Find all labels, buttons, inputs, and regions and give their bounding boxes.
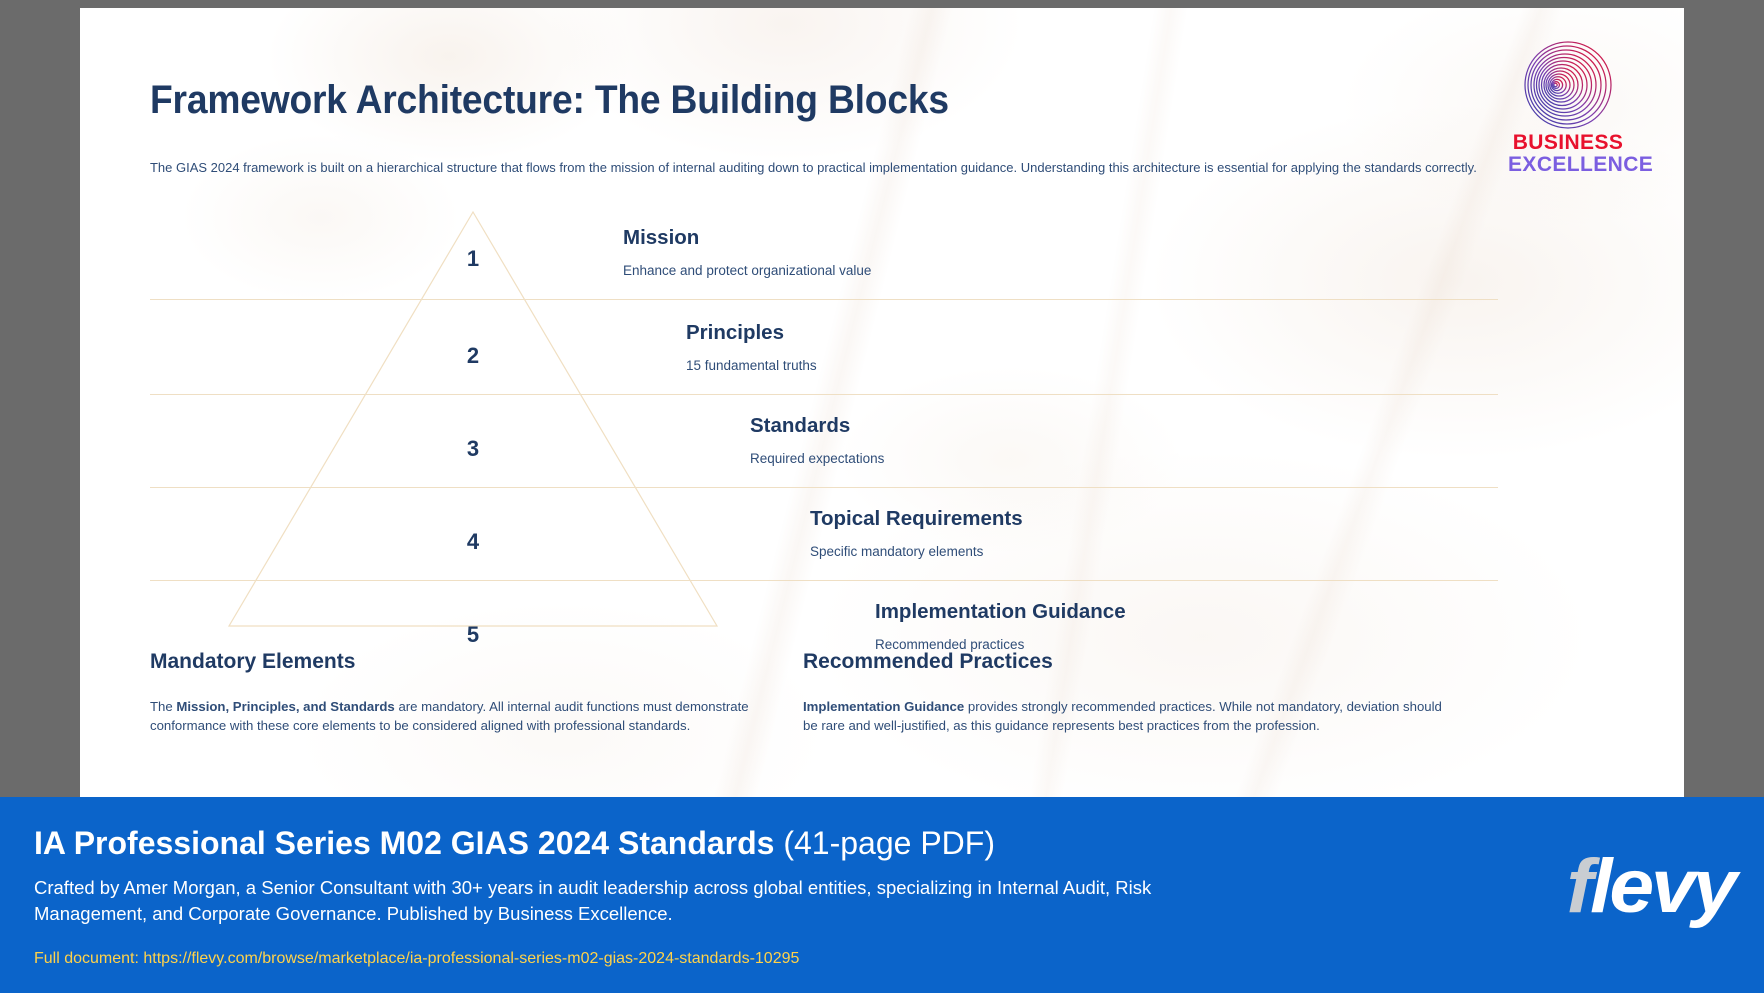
pyramid-tier: 2 Principles 15 fundamental truths (150, 299, 1498, 381)
footer-body-bold: Implementation Guidance (803, 699, 964, 714)
footer-heading: Mandatory Elements (150, 650, 790, 674)
tier-desc: 15 fundamental truths (686, 358, 817, 373)
banner-description: Crafted by Amer Morgan, a Senior Consult… (34, 875, 1164, 926)
brand-name-top: BUSINESS (1508, 132, 1628, 154)
tier-desc: Enhance and protect organizational value (623, 263, 871, 278)
footer-heading: Recommended Practices (803, 650, 1443, 674)
tier-title: Mission (623, 226, 699, 250)
tier-title: Implementation Guidance (875, 600, 1126, 624)
flevy-logo[interactable]: flevy (1566, 849, 1734, 925)
flevy-logo-rest: levy (1590, 844, 1734, 929)
tier-number: 4 (453, 529, 493, 555)
business-excellence-logo: BUSINESS EXCELLENCE (1508, 40, 1628, 176)
footer-column-mandatory: Mandatory Elements The Mission, Principl… (150, 650, 790, 735)
tier-desc: Required expectations (750, 451, 884, 466)
flevy-promo-banner: IA Professional Series M02 GIAS 2024 Sta… (0, 797, 1764, 993)
footer-body: Implementation Guidance provides strongl… (803, 698, 1443, 735)
footer-body-lead: The (150, 699, 176, 714)
footer-column-recommended: Recommended Practices Implementation Gui… (803, 650, 1443, 735)
tier-number: 1 (453, 246, 493, 272)
tier-title: Principles (686, 321, 784, 345)
banner-doc-name: IA Professional Series M02 GIAS 2024 Sta… (34, 825, 774, 861)
footer-body-bold: Mission, Principles, and Standards (176, 699, 394, 714)
tier-number: 2 (453, 343, 493, 369)
footer-body: The Mission, Principles, and Standards a… (150, 698, 790, 735)
tier-title: Topical Requirements (810, 507, 1023, 531)
pyramid-diagram: 1 Mission Enhance and protect organizati… (150, 198, 1570, 638)
tier-desc: Specific mandatory elements (810, 544, 983, 559)
tier-title: Standards (750, 414, 850, 438)
tier-number: 5 (453, 622, 493, 648)
brand-name-bottom: EXCELLENCE (1508, 154, 1628, 176)
pyramid-tier: 4 Topical Requirements Specific mandator… (150, 487, 1498, 569)
page-title: Framework Architecture: The Building Blo… (150, 78, 949, 123)
pyramid-tier: 3 Standards Required expectations (150, 394, 1498, 476)
banner-doc-pages: (41-page PDF) (774, 825, 995, 861)
pyramid-tier: 1 Mission Enhance and protect organizati… (150, 198, 1498, 280)
concentric-rings-icon (1512, 40, 1624, 130)
flevy-logo-f: f (1566, 844, 1590, 929)
tier-number: 3 (453, 436, 493, 462)
page-subtitle: The GIAS 2024 framework is built on a hi… (150, 160, 1421, 175)
banner-document-title: IA Professional Series M02 GIAS 2024 Sta… (34, 825, 995, 862)
banner-document-url[interactable]: Full document: https://flevy.com/browse/… (34, 950, 799, 968)
slide-canvas: Framework Architecture: The Building Blo… (80, 8, 1684, 814)
